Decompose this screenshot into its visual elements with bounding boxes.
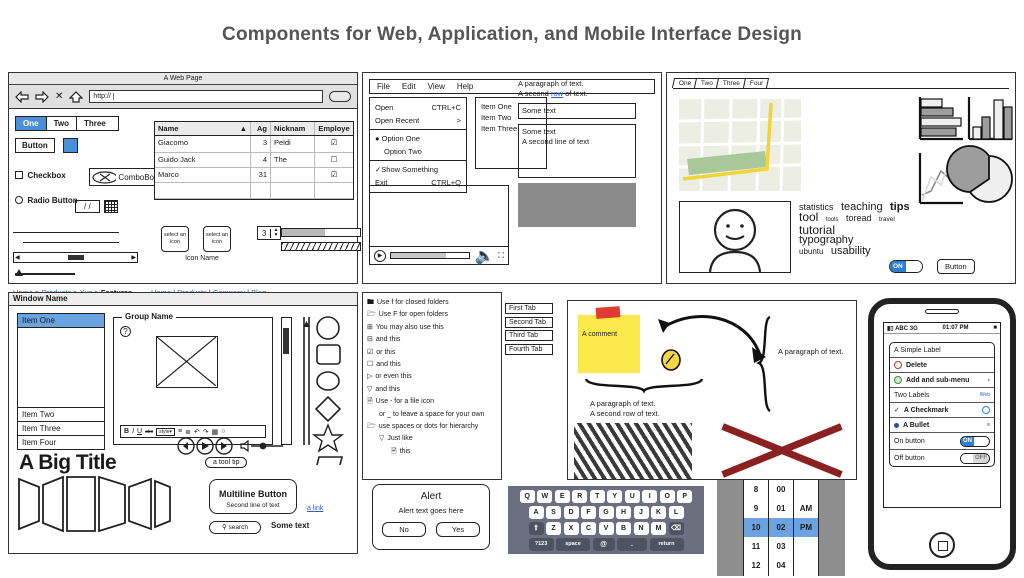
keyboard-row-1: Q W E R T Y U I O P [511, 490, 701, 503]
carousel-widget[interactable] [17, 475, 172, 533]
table-header-nickname[interactable]: Nicknam [271, 122, 315, 135]
icon-select-right[interactable]: select an icon [203, 226, 231, 252]
vertical-tab-group: First Tab Second Tab Third Tab Fourth Ta… [505, 303, 553, 381]
search-go-button[interactable] [329, 91, 351, 102]
key-j[interactable]: J [634, 506, 649, 519]
key-e[interactable]: E [555, 490, 570, 503]
key-l[interactable]: L [669, 506, 684, 519]
status-time: 01:07 PM [943, 325, 969, 331]
tag-cloud: statistics teaching tips tool tools tore… [799, 201, 915, 257]
meridiem-cell[interactable] [794, 480, 818, 499]
sticky-note[interactable] [578, 315, 640, 373]
toggle-on-switch[interactable]: ON [960, 436, 990, 447]
tag-teaching[interactable]: teaching [841, 201, 883, 213]
tag-ubuntu[interactable]: ubuntu [799, 247, 823, 256]
menu-item-show-something[interactable]: ✓Show Something [370, 163, 466, 176]
map-widget[interactable] [679, 99, 801, 191]
keyboard-row-3: ⇧ Z X C V B N M ⌫ [511, 522, 701, 535]
group-name-label: Group Name [122, 312, 176, 321]
folder-open-icon: 🗁 [367, 309, 376, 321]
table-row[interactable]: Marco 31 ☑ [155, 168, 353, 183]
shift-key[interactable]: ⇧ [529, 522, 544, 535]
tooltip: a tool tip [205, 457, 247, 468]
cell-age: 4 [251, 153, 271, 167]
stepper-down-icon[interactable]: ▼ [271, 233, 280, 238]
vtab-first[interactable]: First Tab [505, 303, 553, 314]
tree-panel: 🖿Use f for closed folders 🗁Use F for ope… [362, 292, 502, 480]
page-title: Components for Web, Application, and Mob… [0, 0, 1024, 46]
key-o[interactable]: O [660, 490, 675, 503]
minute-cell[interactable]: 01 [769, 499, 793, 518]
hour-cell[interactable]: 12 [744, 556, 768, 575]
desktop-app-panel: File Edit View Help OpenCTRL+C Open Rece… [362, 72, 662, 284]
menu-edit[interactable]: Edit [402, 82, 416, 91]
menu-divider [370, 160, 466, 161]
paragraph-line-2: A second row of text. [518, 89, 636, 99]
ellipse-shape [317, 372, 339, 390]
ntab-three[interactable]: Three [716, 78, 746, 88]
scribble-icon [574, 423, 692, 479]
key-g[interactable]: G [599, 506, 614, 519]
keyboard-row-2: A S D F G H J K L [511, 506, 701, 519]
multiline-button[interactable]: Multiline Button Second line of text [209, 479, 297, 514]
phone-row-checkmark[interactable]: ✓A Checkmark [890, 403, 994, 418]
tree-item[interactable]: ☐and this [367, 359, 497, 371]
time-picker: 8 9 10 11 12 00 01 02 03 04 AM PM [717, 480, 845, 576]
checkbox-checked-icon[interactable]: ☑ [367, 347, 373, 359]
menu-view[interactable]: View [428, 82, 445, 91]
phone-row-delete[interactable]: Delete [890, 358, 994, 373]
folder-closed-icon: 🖿 [367, 297, 374, 309]
url-input[interactable]: http:// [89, 90, 323, 103]
notebook-tab-bar: One Two Three Four [673, 78, 1009, 89]
key-c[interactable]: C [581, 522, 596, 535]
key-w[interactable]: W [537, 490, 552, 503]
cell-name: Giacomo [155, 136, 251, 152]
phone-row-off-button[interactable]: Off button OFF [890, 450, 994, 466]
toggle-switch[interactable]: ON [889, 260, 923, 273]
tag-usability[interactable]: usability [831, 245, 871, 257]
carrier-label: ABC [895, 326, 908, 332]
lines-icon: ≡ [987, 422, 990, 428]
secondary-label: Web [980, 392, 990, 398]
diamond-shape [316, 397, 340, 421]
radio-input[interactable] [15, 196, 23, 204]
table-row[interactable]: Giacomo 3 Peldi ☑ [155, 136, 353, 153]
radio-selected-icon: ● [375, 134, 380, 143]
tag-travel[interactable]: travel [879, 216, 895, 223]
menu-item-open-recent[interactable]: Open Recent> [370, 114, 466, 127]
number-stepper[interactable]: 3 ▲ ▼ [257, 226, 281, 240]
plus-box-icon[interactable]: ⊞ [367, 322, 373, 334]
check-icon: ✓ [894, 406, 900, 414]
tag-tool[interactable]: tool [799, 210, 818, 224]
paragraph-line-1: A paragraph of text. [518, 79, 636, 89]
file-icon: 🗎 [391, 446, 397, 458]
help-icon[interactable]: ? [120, 326, 131, 337]
key-m[interactable]: M [651, 522, 666, 535]
combobox-label: ComboBox [118, 173, 158, 182]
phone-row-on-button[interactable]: On button ON [890, 433, 994, 450]
window-panel: Window Name Item One Item Two Item Three… [8, 292, 358, 554]
charts-group [917, 95, 1013, 245]
scrollbar-thumb [283, 328, 289, 354]
tree-item[interactable]: ☑or this [367, 347, 497, 359]
tree-item[interactable]: ▽and this [367, 384, 497, 396]
back-arrow-icon[interactable] [15, 91, 29, 103]
key-z[interactable]: Z [546, 522, 561, 535]
vtab-fourth[interactable]: Fourth Tab [505, 344, 553, 355]
avatar [679, 201, 791, 273]
alert-message: Alert text goes here [373, 506, 489, 515]
key-h[interactable]: H [616, 506, 631, 519]
checkbox-label: Checkbox [27, 171, 65, 180]
menu-help[interactable]: Help [457, 82, 473, 91]
generic-button[interactable]: Button [15, 138, 55, 153]
ntab-four[interactable]: Four [743, 78, 770, 88]
at-key[interactable]: @ [593, 538, 615, 551]
combobox-x-icon [92, 171, 116, 184]
combobox[interactable]: ComboBox [89, 168, 159, 186]
window-title: Window Name [9, 293, 357, 306]
multiline-button-line-1: Multiline Button [219, 489, 287, 499]
browser-toolbar: ✕ http:// [9, 85, 357, 109]
tree-item[interactable]: 🗎Use - for a file icon [367, 396, 497, 408]
url-scheme-label: http:// [93, 93, 114, 100]
list-empty-space [18, 328, 104, 408]
brace-icon [756, 315, 774, 413]
red-x-icon [718, 421, 843, 477]
media-player: ▶ 🔈 ⛶ [369, 185, 509, 265]
dot-key[interactable]: . [617, 538, 647, 551]
key-f[interactable]: F [581, 506, 596, 519]
chevron-right-icon: › [988, 377, 990, 384]
minute-cell-selected[interactable]: 02 [769, 518, 793, 537]
stepper-value: 3 [258, 229, 271, 238]
phone-row-bullet[interactable]: A Bullet ≡ [890, 418, 994, 433]
cell-age: 31 [251, 168, 271, 182]
browser-mockup-panel: A Web Page ✕ http:// One Two Three Butto… [8, 72, 358, 284]
backspace-key[interactable]: ⌫ [669, 522, 684, 535]
triangle-down-icon[interactable]: ▽ [379, 433, 384, 445]
key-q[interactable]: Q [520, 490, 535, 503]
vtab-second[interactable]: Second Tab [505, 317, 553, 328]
hour-cell[interactable]: 9 [744, 499, 768, 518]
triangle-right-icon[interactable]: ▷ [367, 371, 372, 383]
dropdown-menu: OpenCTRL+C Open Recent> ● Option One Opt… [369, 97, 467, 193]
key-s[interactable]: S [546, 506, 561, 519]
menu-item-open[interactable]: OpenCTRL+C [370, 101, 466, 114]
data-table: Name ▲ Ag Nicknam Employe Giacomo 3 Peld… [154, 121, 354, 200]
signal-icon: ▮▯ [887, 326, 894, 332]
key-t[interactable]: T [590, 490, 605, 503]
italic-icon[interactable]: I [132, 428, 134, 435]
submenu-arrow-icon: > [457, 116, 461, 125]
alert-dialog: Alert Alert text goes here No Yes [372, 484, 490, 550]
slider[interactable] [15, 268, 85, 278]
tree-item[interactable]: 🗁Use F for open folders [367, 309, 497, 321]
hour-cell[interactable]: 8 [744, 480, 768, 499]
bold-icon[interactable]: B [124, 428, 129, 435]
table-header-age[interactable]: Ag [251, 122, 271, 135]
radio-label: Radio Button [27, 196, 77, 205]
list-item[interactable]: Item Four [18, 436, 104, 449]
divider [23, 242, 119, 243]
tag-typography[interactable]: typography [799, 235, 912, 245]
minute-cell[interactable]: 03 [769, 537, 793, 556]
numbered-list-icon[interactable]: ≣ [185, 428, 191, 436]
table-header-name[interactable]: Name ▲ [155, 122, 251, 135]
key-v[interactable]: V [599, 522, 614, 535]
multiline-button-line-2: Second line of text [212, 502, 294, 509]
tape-icon [596, 306, 621, 319]
toggle-on-label: ON [890, 261, 906, 272]
key-a[interactable]: A [529, 506, 544, 519]
tree-item[interactable]: 🖿Use f for closed folders [367, 297, 497, 309]
bullet-icon [894, 423, 899, 428]
list-item[interactable]: Item Three [18, 422, 104, 436]
key-d[interactable]: D [564, 506, 579, 519]
cell-name: Guido Jack [155, 153, 251, 167]
vertical-slider[interactable] [301, 317, 311, 445]
network-label: 3G [910, 326, 918, 332]
divider [13, 232, 119, 233]
horizontal-scrollbar[interactable]: ◀ ▶ [13, 252, 138, 263]
tree-item[interactable]: 🗁use spaces or dots for hierarchy [367, 421, 497, 433]
image-icon[interactable]: ▦ [212, 428, 219, 436]
vtab-third[interactable]: Third Tab [505, 330, 553, 341]
key-b[interactable]: B [616, 522, 631, 535]
hour-cell-selected[interactable]: 10 [744, 518, 768, 537]
shapes-column [311, 315, 349, 470]
table-header-employee[interactable]: Employe [315, 122, 353, 135]
annotation-paragraph-right: A paragraph of text. [778, 347, 858, 356]
icon-name-label: Icon Name [161, 255, 243, 262]
annotation-paragraph: A paragraph of text. A second row of tex… [590, 399, 660, 419]
some-text-label: Some text [271, 521, 309, 530]
tab-three[interactable]: Three [77, 117, 113, 130]
status-bar: ▮▯ ABC 3G 01:07 PM ■ [884, 323, 1000, 334]
home-button[interactable] [929, 532, 955, 558]
tab-one[interactable]: One [16, 117, 47, 130]
cell-nickname: The [271, 153, 315, 167]
cell-name: Marco [155, 168, 251, 182]
annotation-line-2: A second row of text. [590, 409, 660, 419]
volume-slider[interactable] [239, 439, 285, 453]
circle-shape [317, 317, 339, 339]
meridiem-column[interactable]: AM PM [794, 480, 818, 576]
slider-knob[interactable] [15, 269, 23, 276]
sticky-note-text: A comment [582, 331, 617, 338]
text-content-block: A paragraph of text. A second row of tex… [518, 79, 636, 227]
keyboard-row-4: ?123 space @ . return [511, 538, 701, 551]
add-icon [894, 376, 902, 384]
info-icon[interactable] [982, 406, 990, 414]
numbers-key[interactable]: ?123 [529, 538, 554, 551]
folder-open-icon: 🗁 [367, 421, 376, 433]
cell-employee: ☑ [315, 168, 353, 182]
undo-icon[interactable]: ↶ [194, 428, 200, 436]
volume-icon[interactable]: 🔈 [474, 246, 494, 266]
cell-age: 3 [251, 136, 271, 152]
image-placeholder [156, 336, 218, 388]
slider-track [15, 273, 75, 275]
icon-select-left[interactable]: select an icon [161, 226, 189, 252]
space-key[interactable]: space [556, 538, 590, 551]
cell-employee: ☑ [315, 136, 353, 152]
scroll-right-icon[interactable]: ▶ [131, 254, 136, 261]
textarea-line-2: A second line of text [522, 137, 632, 147]
vertical-scrollbar[interactable] [281, 317, 292, 445]
image-placeholder [518, 183, 636, 227]
key-i[interactable]: I [642, 490, 657, 503]
tree-item[interactable]: ⊟and this [367, 334, 497, 346]
phone-row-simple-label[interactable]: A Simple Label [890, 343, 994, 358]
calendar-icon[interactable] [104, 200, 118, 213]
widgets-panel: One Two Three Four statistics teaching [666, 72, 1016, 284]
key-y[interactable]: Y [607, 490, 622, 503]
media-controls: ▶ 🔈 ⛶ [370, 246, 508, 264]
cell-employee: ☐ [315, 153, 353, 167]
stamp-icon [660, 349, 682, 371]
textarea-input[interactable]: Some text A second line of text [518, 124, 636, 178]
tab-bar: One Two Three [15, 116, 119, 131]
underline-icon[interactable]: U [137, 428, 142, 435]
meridiem-cell[interactable] [794, 537, 818, 556]
phone-list: A Simple Label Delete Add and sub-menu ›… [889, 342, 995, 467]
widgets-button[interactable]: Button [937, 259, 975, 274]
progress-bar [281, 228, 361, 237]
color-swatch[interactable] [63, 138, 78, 153]
key-x[interactable]: X [564, 522, 579, 535]
media-transport-icons[interactable] [177, 437, 233, 455]
phone-row-add-submenu[interactable]: Add and sub-menu › [890, 373, 994, 388]
text-input[interactable]: Some text [518, 103, 636, 119]
virtual-keyboard: Q W E R T Y U I O P A S D F G H J K L ⇧ … [508, 486, 704, 554]
chart-svg [917, 95, 1013, 245]
table-row-empty[interactable] [155, 183, 353, 199]
toggle-knob [906, 261, 922, 272]
key-k[interactable]: K [651, 506, 666, 519]
inline-link[interactable]: row [551, 89, 563, 98]
star-shape [314, 425, 342, 451]
picker-wheels: 8 9 10 11 12 00 01 02 03 04 AM PM [743, 480, 819, 576]
list-item[interactable]: Item Two [18, 408, 104, 422]
key-u[interactable]: U [625, 490, 640, 503]
scroll-left-icon[interactable]: ◀ [15, 254, 20, 261]
menu-file[interactable]: File [377, 82, 390, 91]
annotation-panel: A comment A paragraph of text. A paragra… [567, 300, 857, 480]
textarea-line-1: Some text [522, 127, 632, 137]
tree-item[interactable]: 🗎this [367, 446, 497, 458]
rounded-rectangle-shape [317, 345, 340, 364]
home-icon[interactable] [69, 91, 83, 103]
meridiem-cell[interactable]: AM [794, 499, 818, 518]
play-icon[interactable]: ▶ [374, 250, 386, 262]
fullscreen-icon[interactable]: ⛶ [498, 251, 504, 261]
home-square-icon [938, 541, 948, 551]
meridiem-cell-selected[interactable]: PM [794, 518, 818, 537]
cell-nickname: Peldi [271, 136, 315, 152]
sort-arrow-icon: ▲ [240, 124, 247, 133]
speaker-icon [925, 309, 959, 314]
search-input[interactable]: ⚲ search [209, 521, 261, 534]
search-icon: ⚲ [222, 524, 227, 531]
triangle-down-icon[interactable]: ▽ [367, 384, 372, 396]
a-link[interactable]: a link [307, 505, 323, 512]
phone-screen: ▮▯ ABC 3G 01:07 PM ■ A Simple Label Dele… [883, 322, 1001, 508]
table-row[interactable]: Guido Jack 4 The ☐ [155, 153, 353, 168]
browser-window-title: A Web Page [9, 73, 357, 85]
toggle-off-switch[interactable]: OFF [960, 453, 990, 464]
style-dropdown[interactable]: style▾ [156, 428, 175, 436]
hour-cell[interactable]: 11 [744, 537, 768, 556]
battery-icon: ■ [993, 325, 997, 331]
tree-item[interactable]: ⊞You may also use this [367, 322, 497, 334]
menu-divider [370, 129, 466, 130]
menu-item-option-two[interactable]: Option Two [370, 145, 466, 158]
hour-column[interactable]: 8 9 10 11 12 [744, 480, 769, 576]
tree-item[interactable]: or _ to leave a space for your own [367, 409, 497, 421]
strikethrough-icon[interactable]: abc [145, 429, 153, 435]
list-item-selected[interactable]: Item One [18, 314, 104, 328]
key-r[interactable]: R [572, 490, 587, 503]
checkbox-empty-icon[interactable]: ☐ [367, 359, 373, 371]
redo-icon[interactable]: ↷ [203, 428, 209, 436]
emoji-icon[interactable]: ○ [221, 428, 225, 435]
checkbox-input[interactable] [15, 171, 23, 179]
scrollbar-thumb[interactable] [68, 255, 84, 260]
phone-mockup: ▮▯ ABC 3G 01:07 PM ■ A Simple Label Dele… [868, 298, 1016, 570]
big-title: A Big Title [19, 451, 116, 475]
minute-cell[interactable]: 04 [769, 556, 793, 575]
tree-item[interactable]: ▷or even this [367, 371, 497, 383]
key-p[interactable]: P [677, 490, 692, 503]
window-list[interactable]: Item One Item Two Item Three Item Four [17, 313, 105, 450]
key-n[interactable]: N [634, 522, 649, 535]
group-box: Group Name ? B I U abc style▾ ≡ ≣ ↶ ↷ ▦ … [113, 317, 273, 445]
cell-nickname [271, 168, 315, 182]
media-progress-track[interactable] [390, 252, 470, 259]
return-key[interactable]: return [650, 538, 684, 551]
bullet-list-icon[interactable]: ≡ [178, 428, 182, 435]
indeterminate-progress-bar [281, 242, 361, 251]
minute-cell[interactable]: 00 [769, 480, 793, 499]
minus-box-icon[interactable]: ⊟ [367, 334, 373, 346]
file-icon: 🗎 [367, 396, 373, 408]
table-header-row: Name ▲ Ag Nicknam Employe [155, 122, 353, 136]
tree-item[interactable]: ▽Just like [367, 433, 497, 445]
date-input[interactable]: / / [75, 200, 100, 213]
annotation-line-1: A paragraph of text. [590, 399, 660, 409]
tag-toread[interactable]: toread [846, 213, 872, 223]
tab-two[interactable]: Two [47, 117, 77, 130]
no-button[interactable]: No [382, 522, 426, 537]
minute-column[interactable]: 00 01 02 03 04 [769, 480, 794, 576]
forward-arrow-icon[interactable] [35, 91, 49, 103]
menu-item-option-one[interactable]: ● Option One [370, 132, 466, 145]
alert-title: Alert [373, 491, 489, 502]
stop-icon[interactable]: ✕ [55, 91, 63, 102]
brace-icon [584, 377, 704, 395]
parallelogram-shape [315, 457, 342, 465]
phone-row-two-labels[interactable]: Two Labels Web [890, 388, 994, 403]
delete-icon [894, 361, 902, 369]
tree-list: 🖿Use f for closed folders 🗁Use F for ope… [363, 293, 501, 462]
meridiem-cell[interactable] [794, 556, 818, 575]
yes-button[interactable]: Yes [436, 522, 480, 537]
tag-tips[interactable]: tips [890, 201, 910, 213]
